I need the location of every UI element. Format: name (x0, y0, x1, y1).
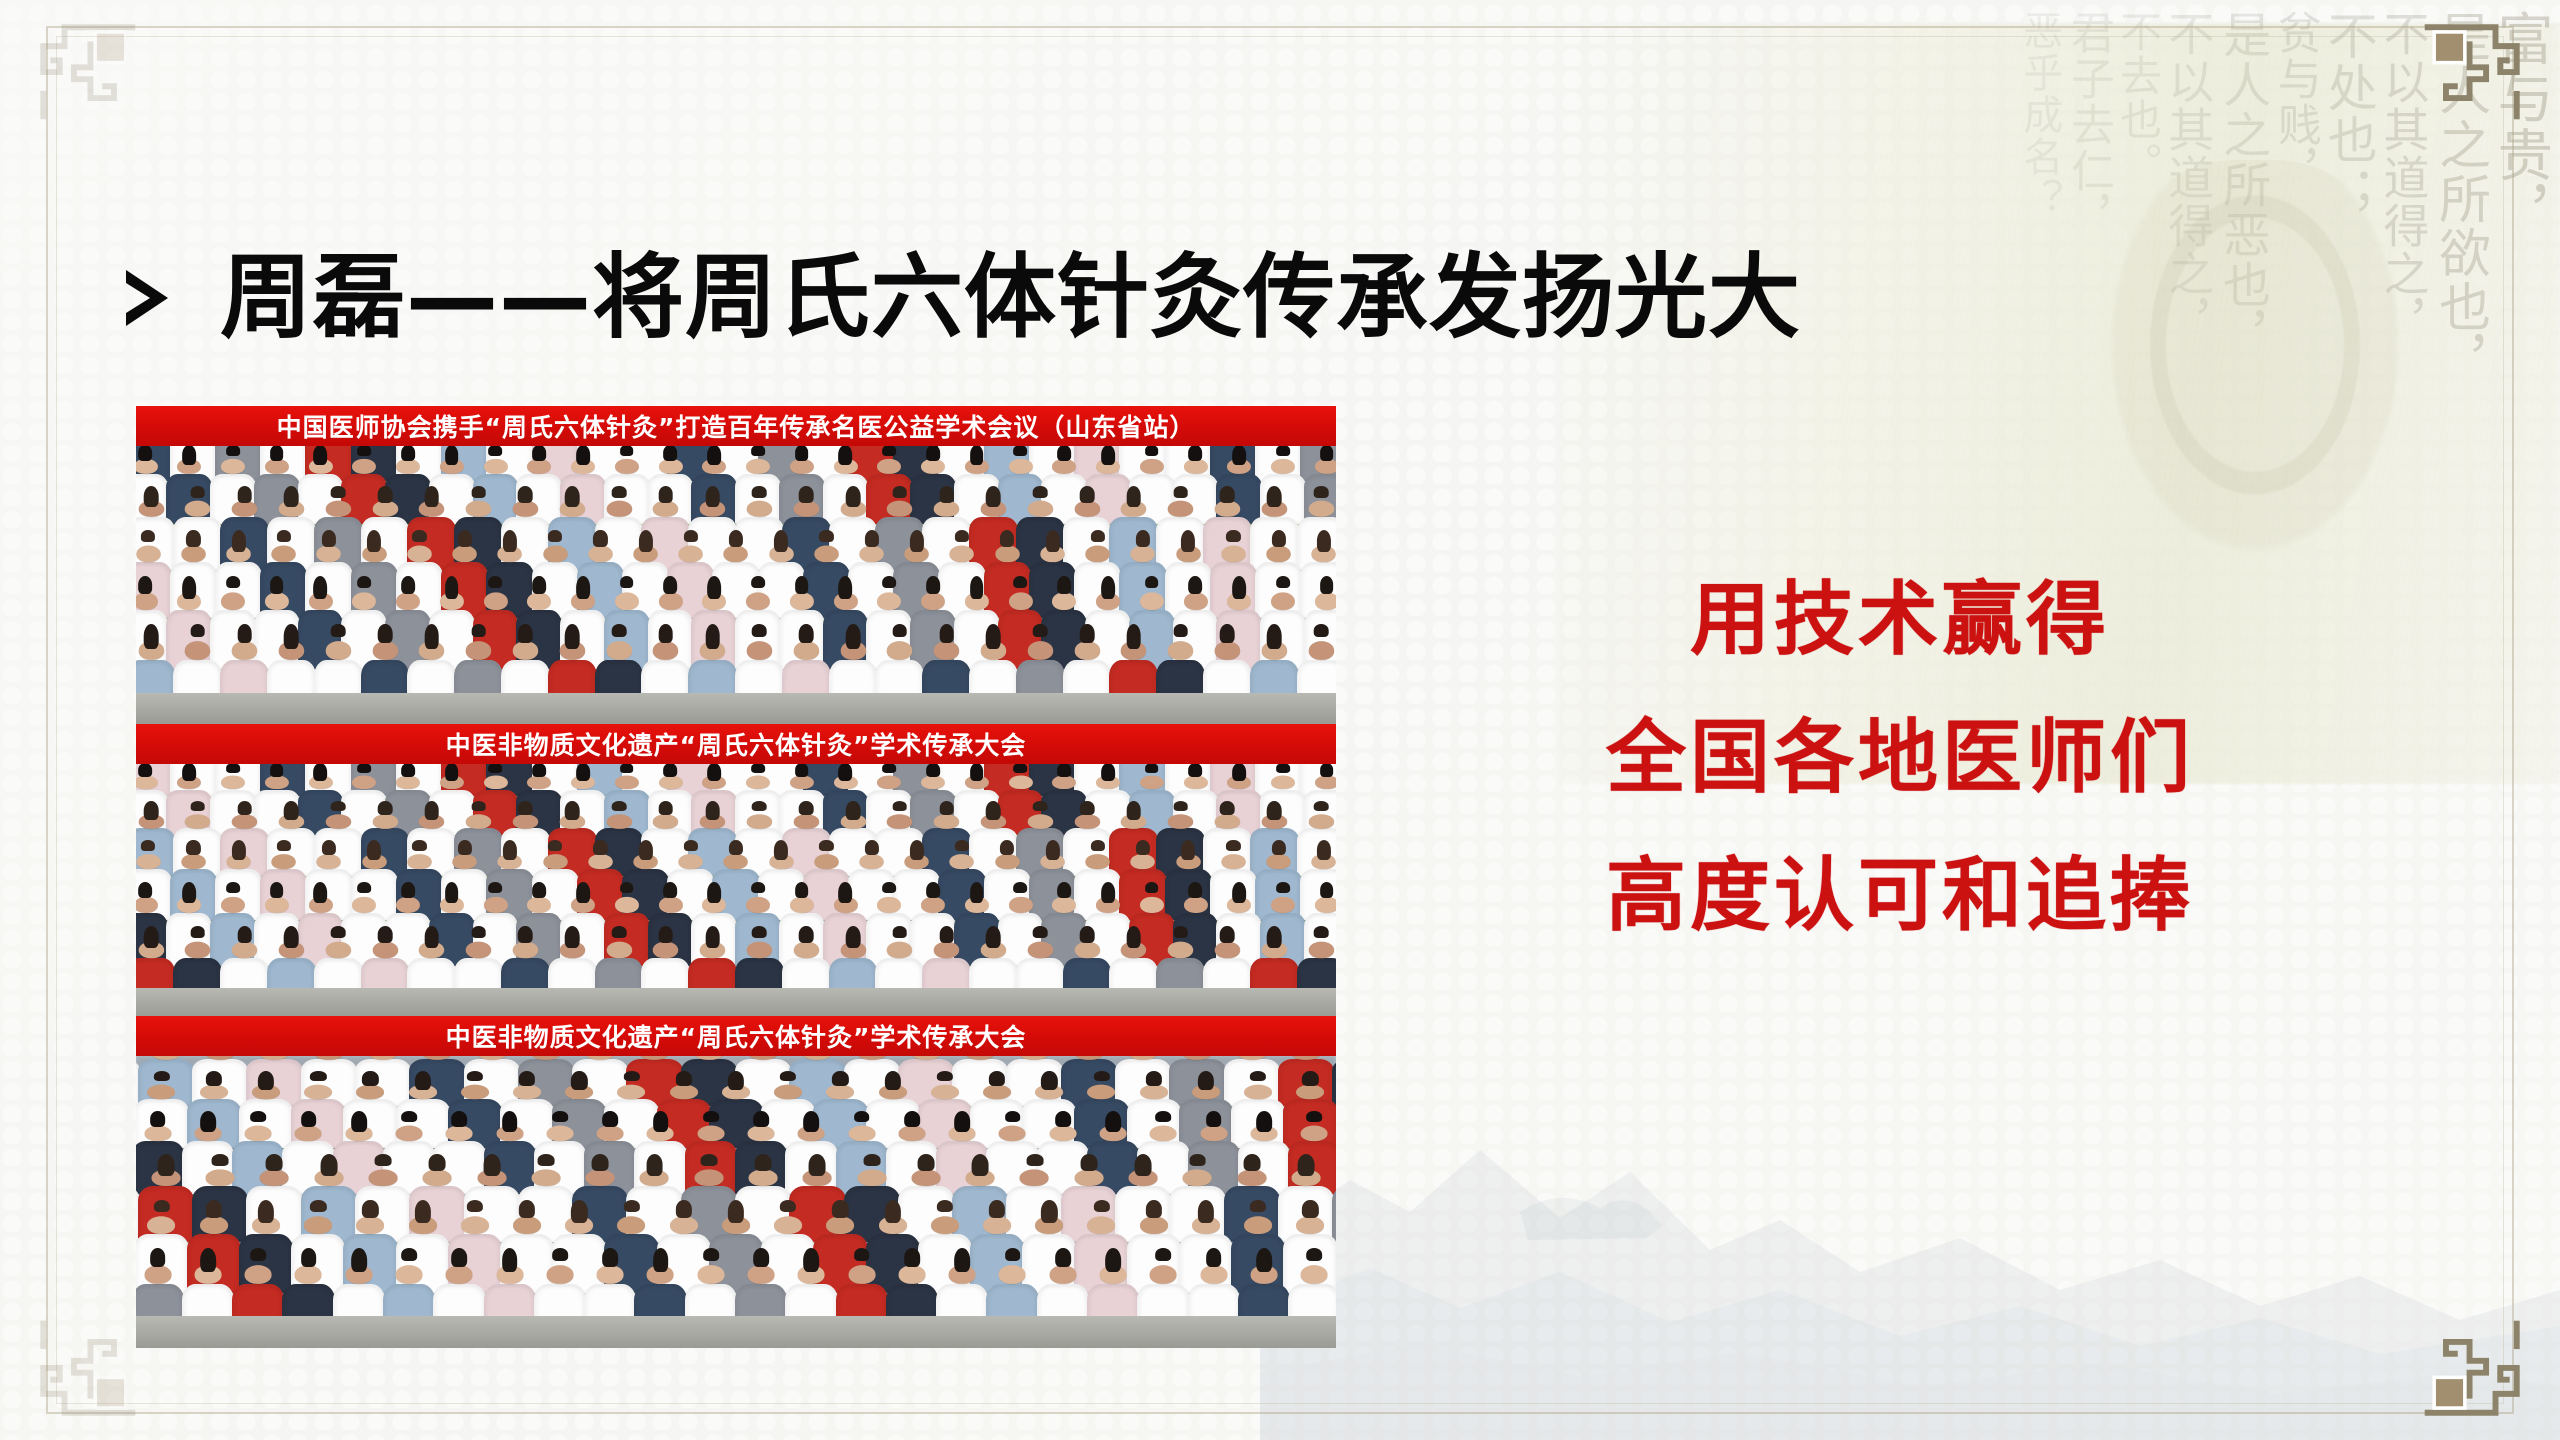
photo-ground (136, 693, 1336, 724)
group-photo-image (136, 446, 1336, 724)
group-photo-image (136, 1056, 1336, 1348)
calligraphy-column: 是人之所欲也， (2432, 10, 2487, 830)
seal-watermark (2090, 160, 2420, 580)
photo-banner-caption: 中医非物质文化遗产“周氏六体针灸”学术传承大会 (136, 1016, 1336, 1056)
page-title: 周磊——将周氏六体针灸传承发扬光大 (220, 252, 1801, 344)
photo-block: 中医非物质文化遗产“周氏六体针灸”学术传承大会 (136, 1016, 1336, 1348)
photo-ground (136, 1316, 1336, 1348)
greek-key-corner-icon (22, 6, 140, 124)
photo-banner-caption: 中国医师协会携手“周氏六体针灸”打造百年传承名医公益学术会议（山东省站） (136, 406, 1336, 446)
slide-canvas: 富与贵， 是人之所欲也， 不以其道得之， 不处也； 贫与贱， 是人之所恶也， 不… (0, 0, 2560, 1440)
slogan-block: 用技术赢得 全国各地医师们 高度认可和追捧 (1400, 580, 2400, 936)
calligraphy-column: 富与贵， (2491, 10, 2550, 830)
photo-block: 中国医师协会携手“周氏六体针灸”打造百年传承名医公益学术会议（山东省站） (136, 406, 1336, 724)
greek-key-corner-icon (22, 1316, 140, 1434)
photo-banner-caption: 中医非物质文化遗产“周氏六体针灸”学术传承大会 (136, 724, 1336, 764)
arrow-bullet-icon (120, 267, 174, 329)
photo-crowd (136, 446, 1336, 724)
photo-block: 中医非物质文化遗产“周氏六体针灸”学术传承大会 (136, 724, 1336, 1016)
photo-ground (136, 988, 1336, 1016)
photo-crowd (136, 1056, 1336, 1348)
group-photo-image (136, 764, 1336, 1016)
greek-key-corner-icon (2420, 1316, 2538, 1434)
photo-crowd (136, 764, 1336, 1016)
photo-stack: 中国医师协会携手“周氏六体针灸”打造百年传承名医公益学术会议（山东省站） 中医非… (136, 406, 1336, 1410)
slogan-line: 用技术赢得 (1690, 580, 2110, 660)
greek-key-corner-icon (2420, 6, 2538, 124)
slogan-line: 高度认可和追捧 (1606, 856, 2194, 936)
slide-title-row: 周磊——将周氏六体针灸传承发扬光大 (120, 252, 1801, 344)
slogan-line: 全国各地医师们 (1606, 718, 2194, 798)
